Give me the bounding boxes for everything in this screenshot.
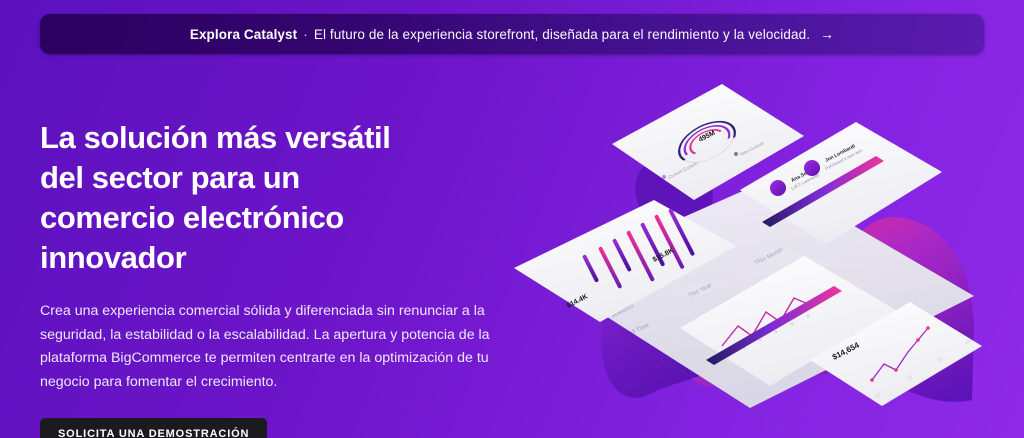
announcement-message: El futuro de la experiencia storefront, … xyxy=(314,27,810,42)
page-title: La solución más versátil del sector para… xyxy=(40,118,440,278)
arrow-right-icon: → xyxy=(820,26,834,42)
announcement-banner[interactable]: Explora Catalyst · El futuro de la exper… xyxy=(40,14,984,54)
announcement-content: Explora Catalyst · El futuro de la exper… xyxy=(190,26,834,42)
isometric-dashboard-illustration: Statistics All Time This Year This Month… xyxy=(504,60,1024,438)
hero-description: Crea una experiencia comercial sólida y … xyxy=(40,300,495,394)
announcement-strong-label: Explora Catalyst xyxy=(190,27,297,42)
request-demo-button[interactable]: SOLICITA UNA DEMOSTRACIÓN xyxy=(40,418,267,438)
hero-copy-column: La solución más versátil del sector para… xyxy=(40,118,510,438)
announcement-separator: · xyxy=(303,27,308,42)
